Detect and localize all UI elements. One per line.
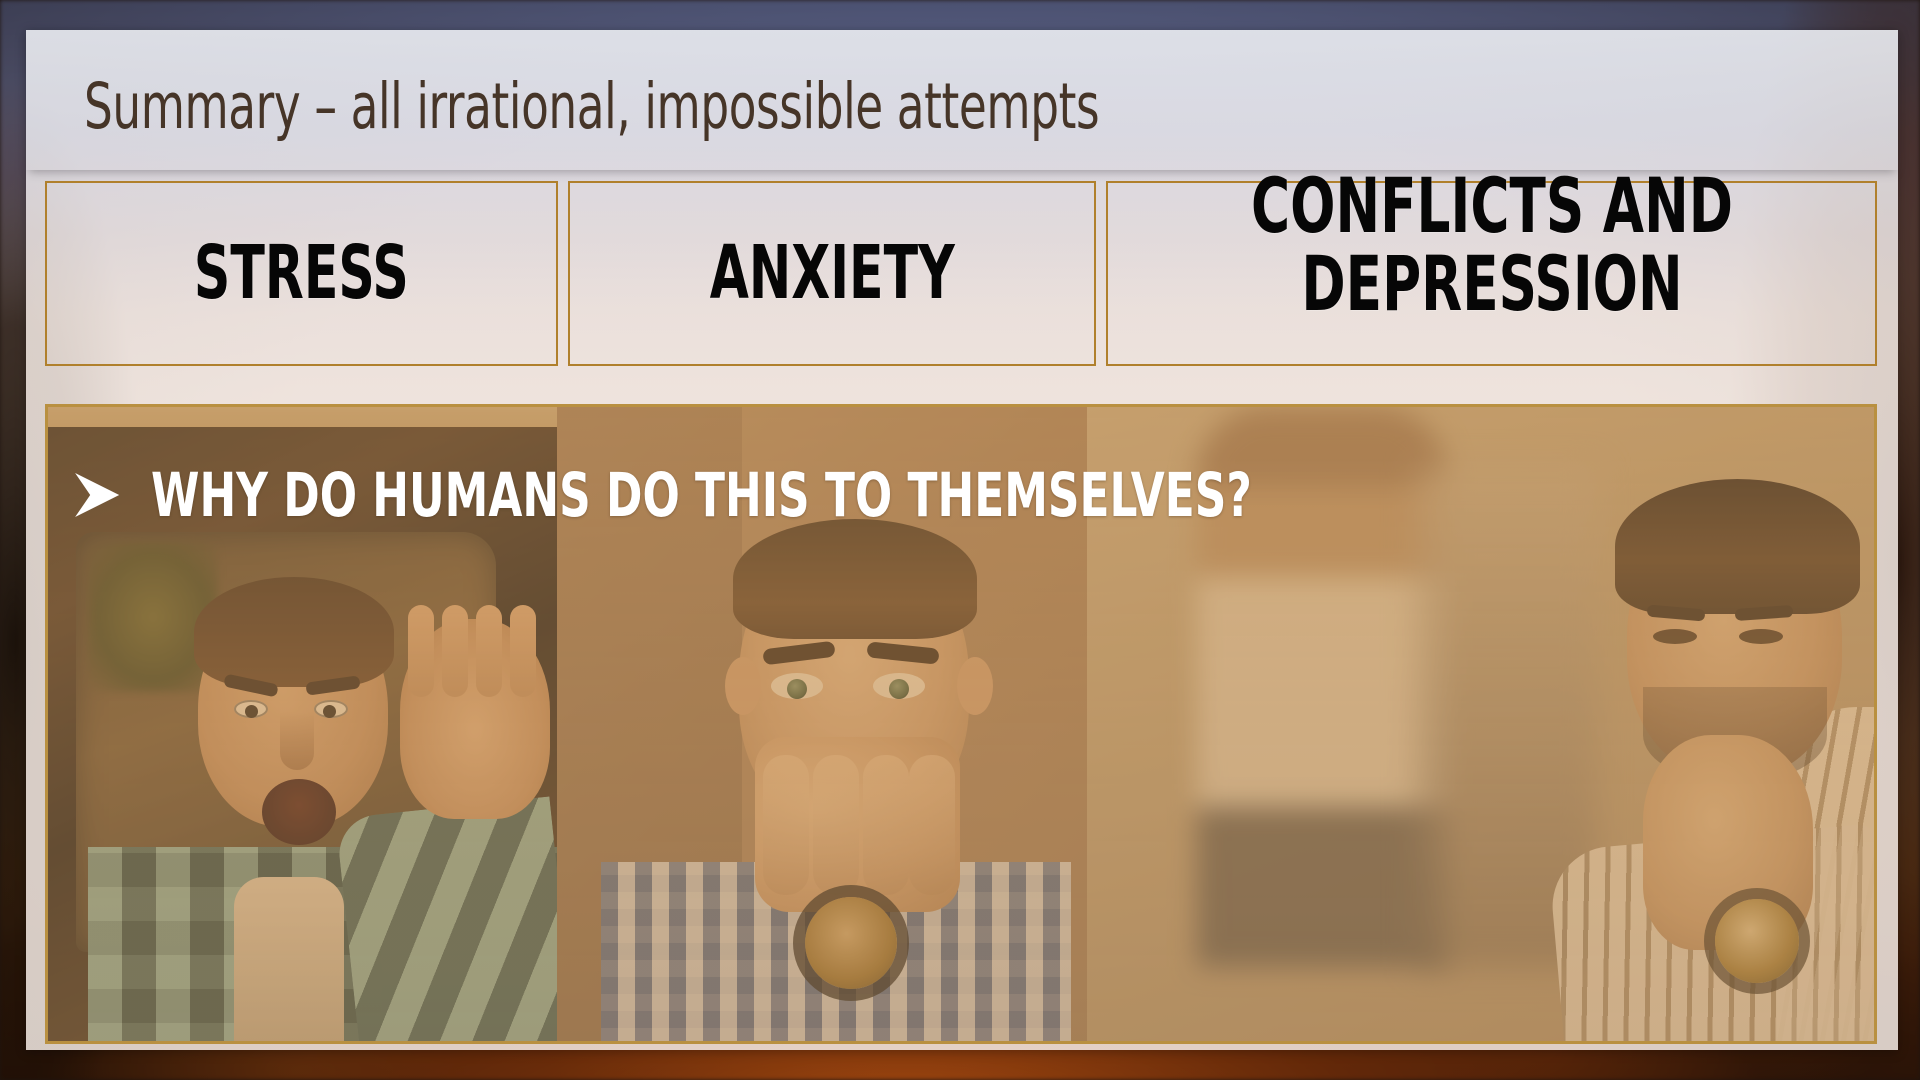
sepia-wash bbox=[48, 407, 557, 1041]
right-eye bbox=[1739, 629, 1783, 644]
wristwatch-shape bbox=[805, 897, 897, 989]
clenched-fists-shape bbox=[755, 737, 960, 912]
hair-shape bbox=[194, 577, 394, 687]
hair-shape bbox=[1615, 479, 1860, 614]
title-band: Summary – all irrational, impossible att… bbox=[26, 30, 1898, 170]
finger-1 bbox=[408, 605, 434, 697]
blurred-background-figure-2 bbox=[1417, 467, 1597, 967]
presentation-slide: Summary – all irrational, impossible att… bbox=[0, 0, 1920, 1080]
stubble-shape bbox=[1643, 687, 1827, 783]
supporting-hand-shape bbox=[1643, 735, 1813, 950]
left-eyebrow bbox=[1647, 604, 1706, 621]
head-shape bbox=[198, 592, 388, 827]
angry-driver-photo bbox=[48, 407, 557, 1041]
category-label-stress: STRESS bbox=[194, 236, 409, 311]
right-ear bbox=[957, 657, 993, 715]
wall-backdrop bbox=[557, 407, 1087, 1041]
left-eyebrow bbox=[762, 641, 835, 666]
slide-title: Summary – all irrational, impossible att… bbox=[84, 70, 1099, 143]
category-box-stress[interactable]: STRESS bbox=[45, 181, 558, 366]
category-box-conflicts-and-depression[interactable]: CONFLICTS AND DEPRESSION bbox=[1106, 181, 1877, 366]
finger-2 bbox=[442, 605, 468, 697]
knuckle-1 bbox=[763, 755, 809, 895]
knuckle-4 bbox=[909, 755, 955, 895]
category-label-line-1: CONFLICTS AND bbox=[1102, 167, 1882, 245]
left-eye bbox=[771, 673, 823, 699]
category-box-anxiety[interactable]: ANXIETY bbox=[568, 181, 1096, 366]
sky-backdrop bbox=[48, 407, 557, 497]
sepia-wash bbox=[1087, 407, 1874, 1041]
road-backdrop bbox=[48, 465, 557, 535]
right-eyebrow bbox=[866, 641, 939, 664]
right-pupil bbox=[323, 705, 336, 718]
right-eyebrow bbox=[305, 675, 360, 695]
angry-driver-artwork bbox=[48, 407, 557, 1041]
finger-4 bbox=[510, 605, 536, 697]
plaid-shirt-shape bbox=[88, 847, 557, 1041]
nose-shape bbox=[280, 712, 314, 770]
right-eye bbox=[314, 700, 348, 718]
finger-3 bbox=[476, 605, 502, 697]
depressed-man-photo bbox=[1087, 407, 1874, 1041]
wristwatch-shape bbox=[1715, 899, 1799, 983]
raised-hand-shape bbox=[400, 619, 550, 819]
sepia-wash bbox=[557, 407, 1087, 1041]
knuckle-3 bbox=[863, 755, 909, 895]
striped-shirt-arm bbox=[1548, 823, 1874, 1041]
knuckle-2 bbox=[813, 755, 859, 895]
blurred-background-figure bbox=[1197, 407, 1447, 967]
category-label-conflicts-and-depression: CONFLICTS AND DEPRESSION bbox=[1102, 167, 1882, 322]
head-shape bbox=[1627, 507, 1842, 777]
left-iris bbox=[787, 679, 807, 699]
head-shape bbox=[739, 537, 969, 827]
left-ear bbox=[725, 657, 761, 715]
wall-shadow-panel bbox=[557, 407, 742, 1041]
photo-strip bbox=[45, 404, 1877, 1044]
left-eye bbox=[1653, 629, 1697, 644]
anxious-man-photo bbox=[557, 407, 1087, 1041]
open-mouth-shape bbox=[262, 779, 336, 845]
category-label-anxiety: ANXIETY bbox=[709, 236, 954, 311]
right-eyebrow bbox=[1735, 605, 1794, 621]
right-eye bbox=[873, 673, 925, 699]
gingham-shirt-shape bbox=[601, 862, 1071, 1041]
roadside-foliage bbox=[88, 542, 218, 692]
car-window-shape bbox=[76, 532, 496, 952]
hair-shape bbox=[733, 519, 977, 639]
left-pupil bbox=[245, 705, 258, 718]
left-eye bbox=[234, 700, 268, 718]
category-label-line-2: DEPRESSION bbox=[1102, 245, 1882, 323]
raised-arm-shape bbox=[336, 796, 557, 1041]
right-iris bbox=[889, 679, 909, 699]
left-eyebrow bbox=[223, 674, 279, 698]
striped-shirt-shoulder bbox=[1777, 707, 1874, 1041]
car-body-shape bbox=[48, 427, 557, 1041]
category-box-row: STRESS ANXIETY CONFLICTS AND DEPRESSION bbox=[45, 181, 1877, 366]
room-backdrop bbox=[1087, 407, 1874, 1041]
undershirt-shape bbox=[234, 877, 344, 1041]
